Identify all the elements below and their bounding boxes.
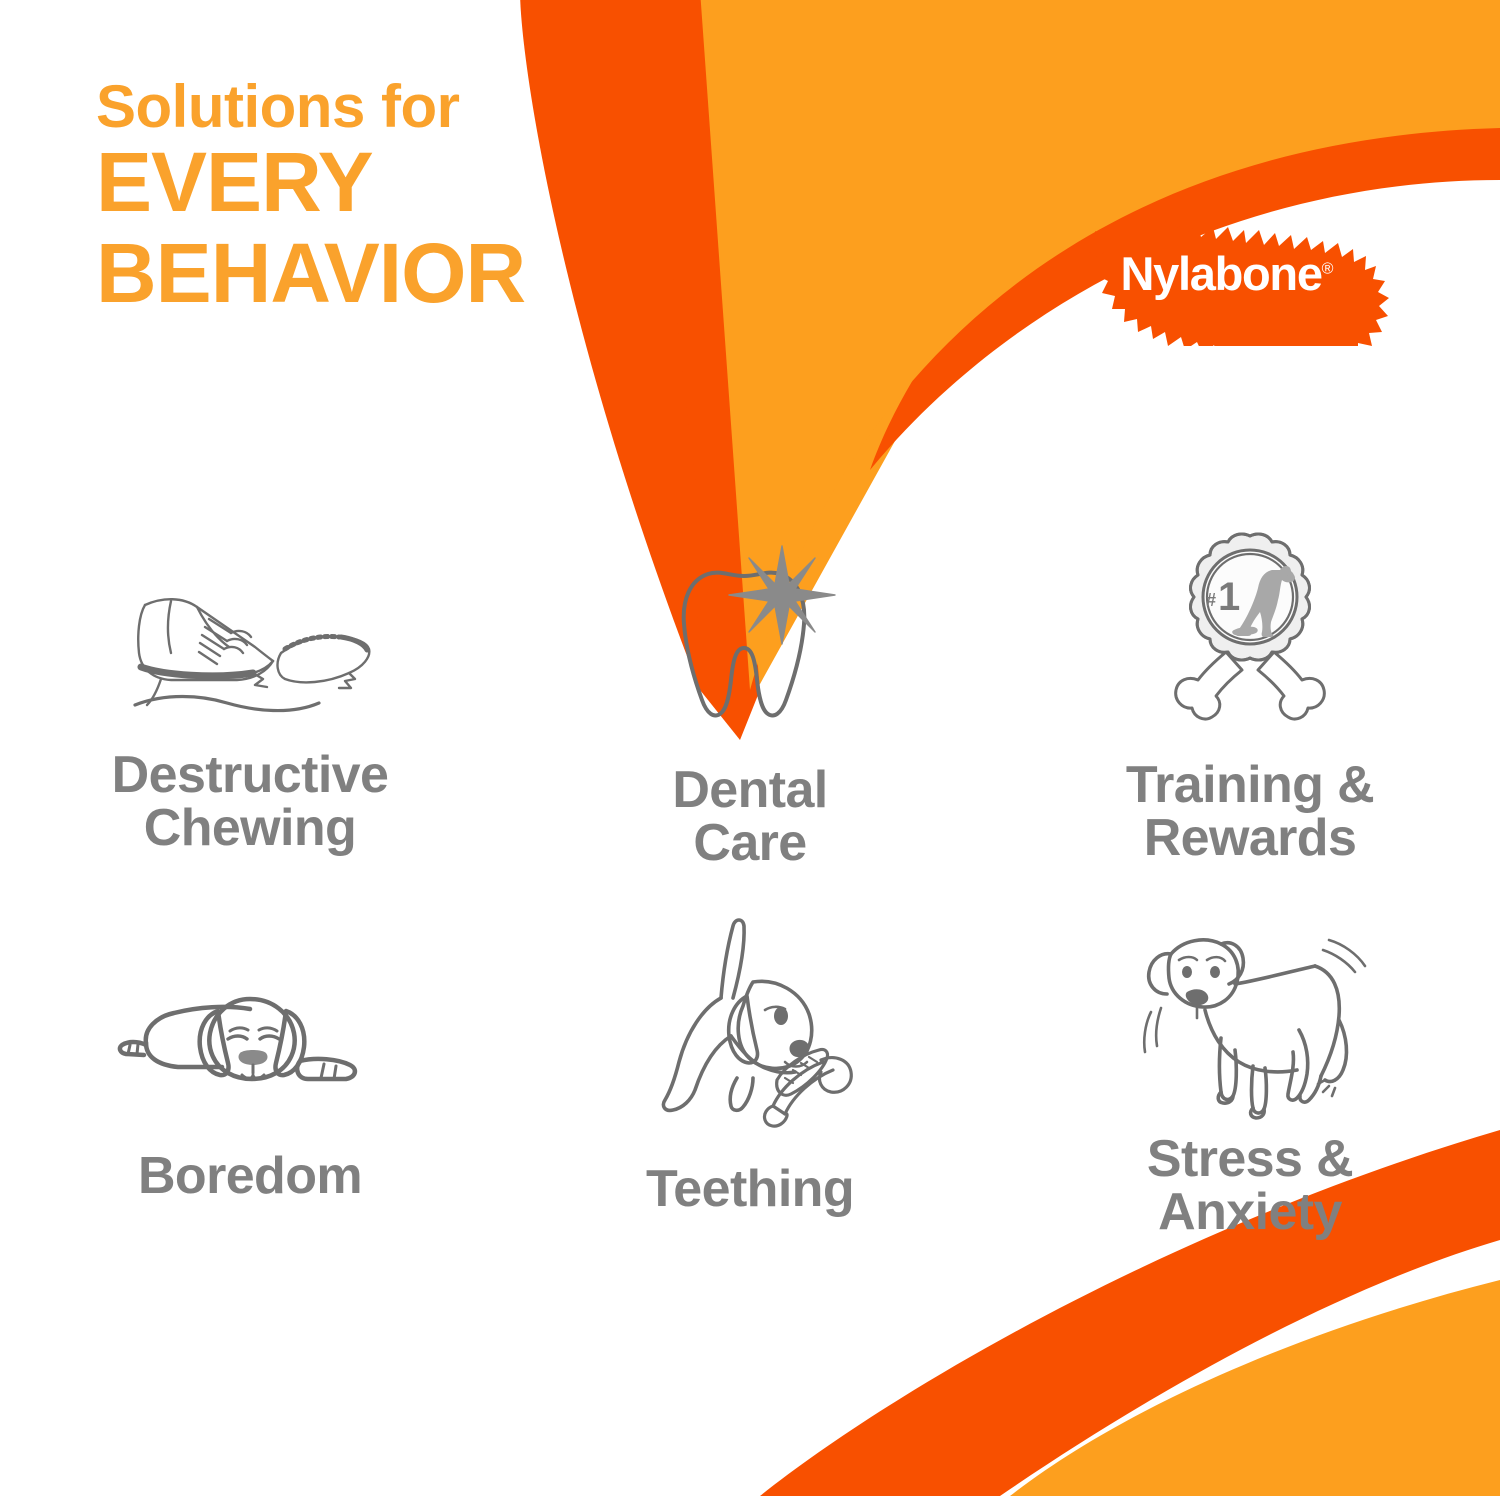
award-medal-dog-icon: # 1 [1140, 520, 1360, 745]
category-label: Dental Care [672, 764, 827, 870]
category-label: Stress & Anxiety [1147, 1133, 1353, 1239]
svg-text:1: 1 [1218, 575, 1240, 619]
logo-bone-splash-icon [1068, 196, 1398, 346]
headline-line-2: EVERY [96, 137, 716, 228]
category-label: Teething [646, 1163, 854, 1216]
solutions-poster: Solutions for EVERY BEHAVIOR Nylabone® [0, 0, 1500, 1496]
behavior-category-grid: Destructive Chewing Dental Care [0, 520, 1500, 1270]
category-dental-care[interactable]: Dental Care [500, 520, 1000, 910]
category-label: Boredom [138, 1150, 362, 1203]
headline-line-3: BEHAVIOR [96, 228, 716, 319]
lying-dog-icon [100, 910, 400, 1110]
category-stress-anxiety[interactable]: Stress & Anxiety [1000, 910, 1500, 1270]
headline-line-1: Solutions for [96, 76, 716, 137]
category-boredom[interactable]: Boredom [0, 910, 500, 1270]
headline-block: Solutions for EVERY BEHAVIOR [96, 76, 716, 319]
anxious-dog-icon [1125, 910, 1375, 1125]
puppy-chewing-toy-icon [625, 910, 875, 1145]
nylabone-logo: Nylabone® [1068, 196, 1398, 346]
category-label: Destructive Chewing [112, 749, 389, 855]
category-teething[interactable]: Teething [500, 910, 1000, 1270]
svg-text:#: # [1206, 590, 1216, 610]
category-destructive-chewing[interactable]: Destructive Chewing [0, 520, 500, 910]
sparkling-tooth-icon [650, 520, 850, 750]
bottom-amber-swoosh [1010, 1280, 1500, 1496]
chewed-shoe-icon [105, 520, 395, 735]
category-training-rewards[interactable]: # 1 Training & Rewards [1000, 520, 1500, 910]
category-label: Training & Rewards [1126, 759, 1374, 865]
